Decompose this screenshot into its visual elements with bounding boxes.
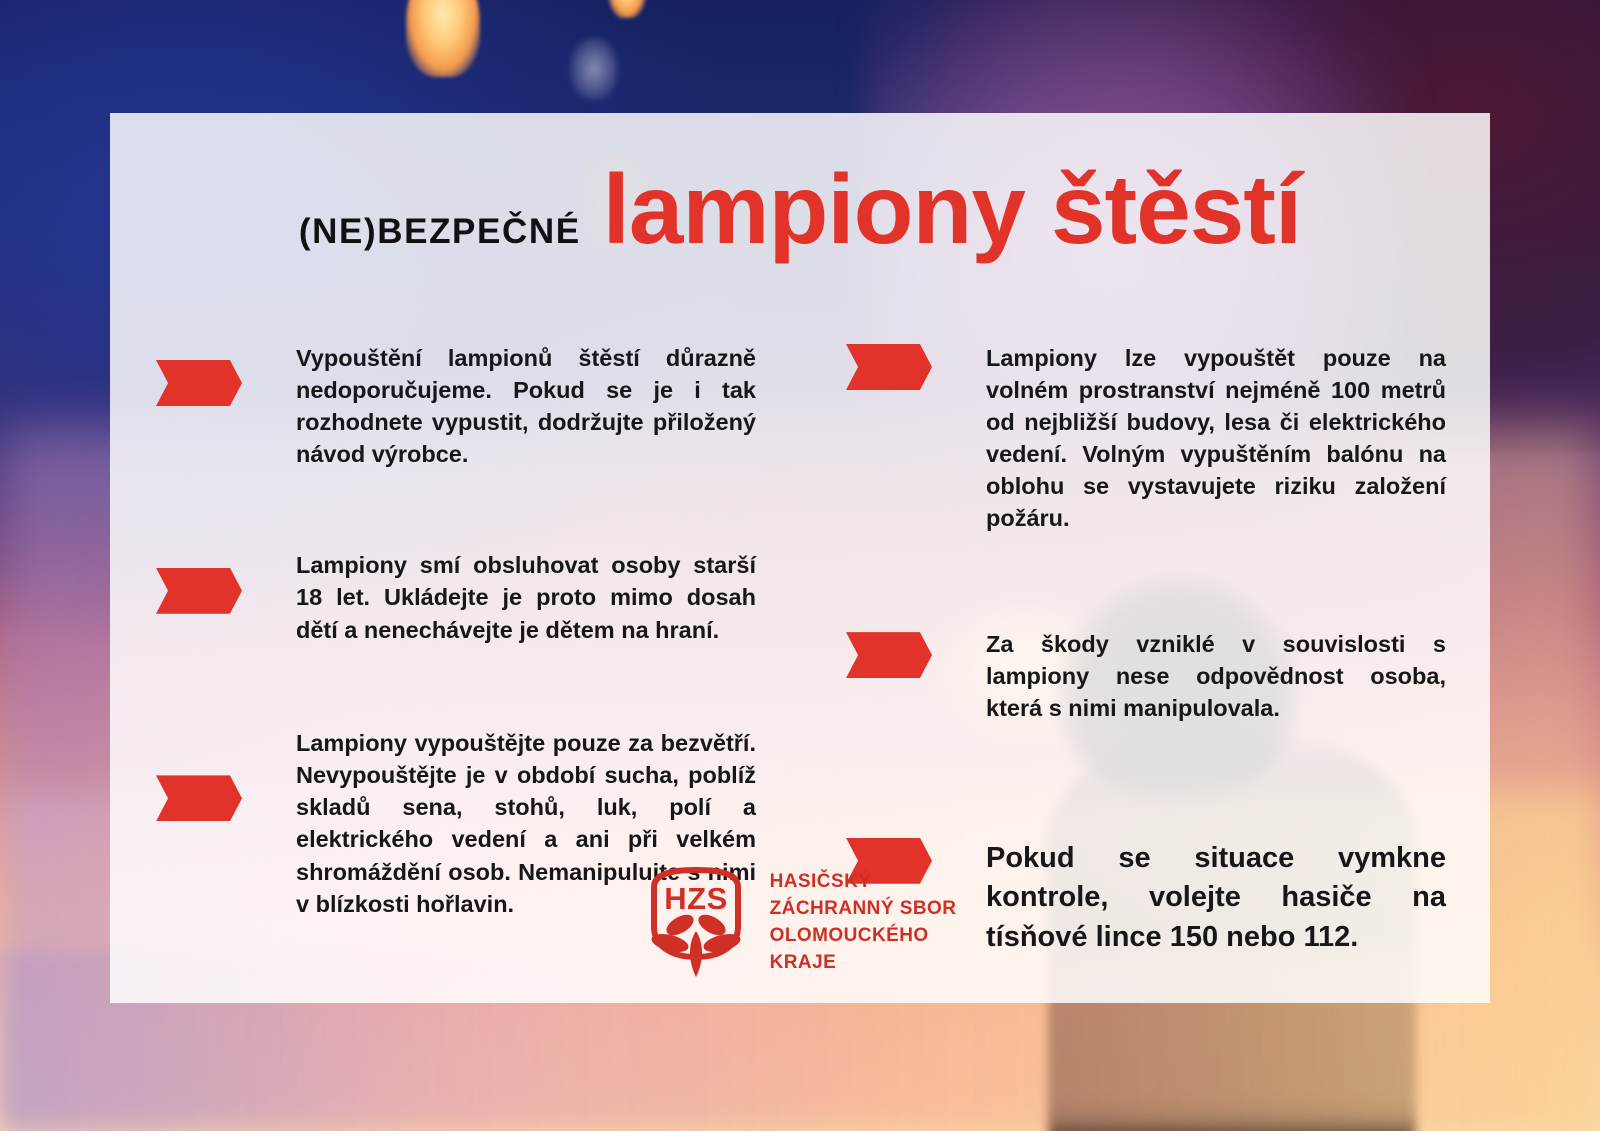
list-item: Za škody vzniklé v souvislosti s lampion… — [846, 604, 1446, 748]
hzs-logo-line-1: HASIČSKÝ — [770, 869, 957, 896]
hzs-shield-flower-logo-icon: HZS — [644, 865, 748, 981]
svg-text:HZS: HZS — [664, 881, 728, 916]
hzs-logo-line-2: ZÁCHRANNÝ SBOR — [770, 896, 957, 923]
list-item: Lampiony smí obsluhovat osoby starší 18 … — [156, 526, 756, 670]
list-item: Lampiony lze vypouštět pouze na volném p… — [846, 318, 1446, 558]
poster-root: (NE)BEZPEČNÉ lampiony štěstí Vypouštění … — [0, 0, 1600, 1131]
bullet-marker-wrap — [846, 318, 986, 390]
bullet-marker-wrap — [156, 526, 296, 614]
hzs-logo-line-3: OLOMOUCKÉHO — [770, 923, 957, 950]
hzs-logo-line-4: KRAJE — [770, 950, 957, 977]
chevron-arrow-icon — [846, 632, 932, 678]
chevron-arrow-icon — [156, 775, 242, 821]
title-prefix: (NE)BEZPEČNÉ — [299, 212, 581, 252]
list-item-text: Vypouštění lampionů štěstí důrazně nedop… — [296, 342, 756, 471]
list-item-text: Lampiony smí obsluhovat osoby starší 18 … — [296, 549, 756, 646]
sky-lantern-icon — [406, 0, 480, 77]
page-title: (NE)BEZPEČNÉ lampiony štěstí — [110, 165, 1490, 253]
list-item: Vypouštění lampionů štěstí důrazně nedop… — [156, 318, 756, 494]
chevron-arrow-icon — [156, 360, 242, 406]
list-item-text: Lampiony lze vypouštět pouze na volném p… — [986, 342, 1446, 535]
chevron-arrow-icon — [156, 568, 242, 614]
sky-lantern-icon — [570, 38, 618, 99]
chevron-arrow-icon — [846, 344, 932, 390]
hzs-logo-text: HASIČSKÝ ZÁCHRANNÝ SBOR OLOMOUCKÉHO KRAJ… — [770, 869, 957, 977]
title-main: lampiony štěstí — [603, 165, 1301, 253]
list-item-text: Za škody vzniklé v souvislosti s lampion… — [986, 628, 1446, 725]
bullet-marker-wrap — [846, 604, 986, 678]
bullet-marker-wrap — [156, 318, 296, 406]
bullet-marker-wrap — [156, 703, 296, 821]
content-card: (NE)BEZPEČNÉ lampiony štěstí Vypouštění … — [110, 113, 1490, 1003]
hzs-logo: HZS HASIČSKÝ ZÁCHRANNÝ SBOR OLOMOUCKÉHO … — [110, 865, 1490, 981]
